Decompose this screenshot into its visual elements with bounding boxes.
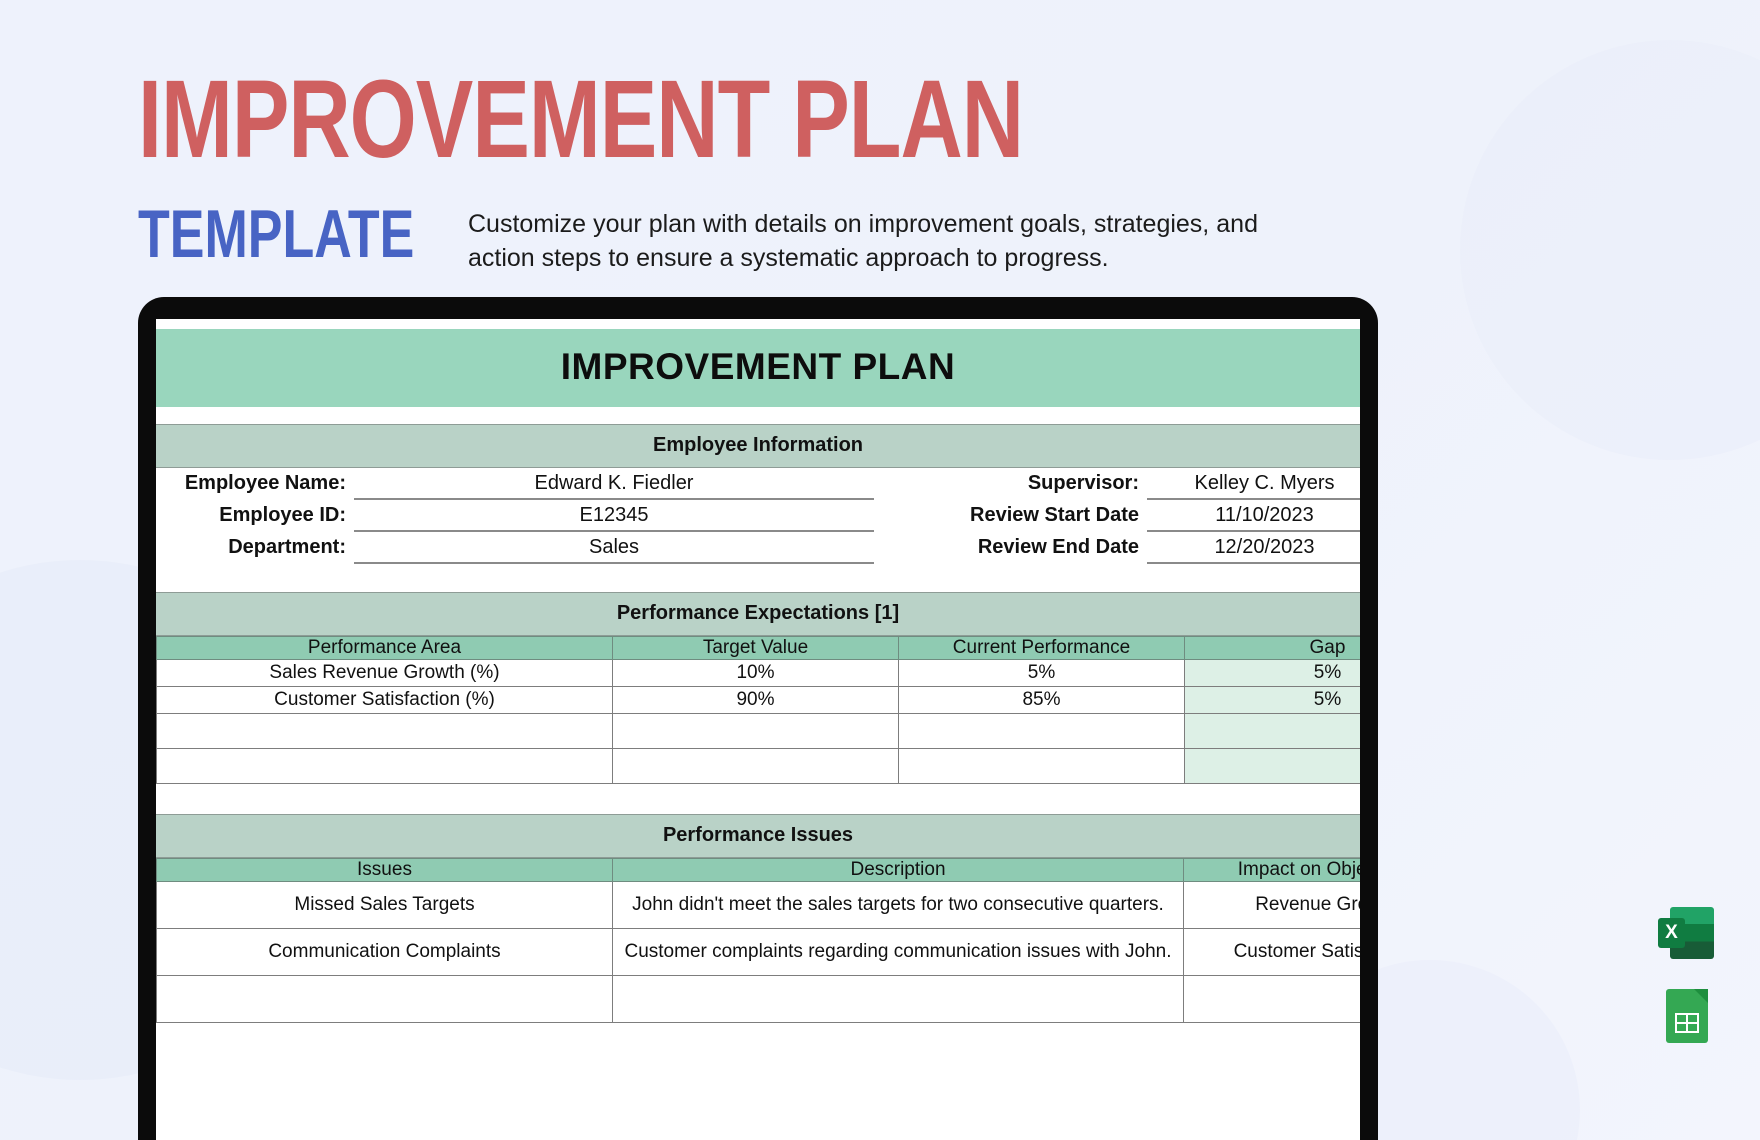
format-icons: X (1648, 905, 1724, 1045)
table-row (157, 749, 1361, 784)
excel-icon[interactable]: X (1658, 905, 1714, 961)
column-header-impact-on-objectives: Impact on Objectives (1184, 859, 1361, 882)
cell-performance-area[interactable] (157, 714, 613, 749)
table-header-row: Issues Description Impact on Objectives (157, 859, 1361, 882)
table-row: Employee ID: E12345 Review Start Date 11… (156, 499, 1360, 531)
page-description: Customize your plan with details on impr… (468, 208, 1258, 276)
cell-current-performance[interactable]: 5% (899, 660, 1185, 687)
google-sheets-icon-grid (1675, 1013, 1699, 1033)
subtitle-row: TEMPLATE Customize your plan with detail… (138, 200, 1318, 276)
column-header-performance-area: Performance Area (157, 637, 613, 660)
laptop-frame: IMPROVEMENT PLAN Employee Information Em… (138, 297, 1378, 1140)
field-value-employee-name[interactable]: Edward K. Fiedler (354, 468, 874, 499)
cell-performance-area[interactable] (157, 749, 613, 784)
cell-description[interactable] (613, 976, 1184, 1023)
field-label-department: Department: (156, 531, 354, 563)
field-value-department[interactable]: Sales (354, 531, 874, 563)
cell-gap[interactable]: 5% (1185, 660, 1361, 687)
cell-target-value[interactable]: 90% (613, 687, 899, 714)
cell-current-performance[interactable] (899, 714, 1185, 749)
field-label-review-start-date: Review Start Date (904, 499, 1147, 531)
performance-issues-table: Issues Description Impact on Objectives … (156, 858, 1360, 1023)
cell-target-value[interactable]: 10% (613, 660, 899, 687)
cell-target-value[interactable] (613, 749, 899, 784)
cell-issue[interactable] (157, 976, 613, 1023)
performance-expectations-table: Performance Area Target Value Current Pe… (156, 636, 1360, 784)
field-label-employee-name: Employee Name: (156, 468, 354, 499)
cell-performance-area[interactable]: Customer Satisfaction (%) (157, 687, 613, 714)
field-label-review-end-date: Review End Date (904, 531, 1147, 563)
field-label-supervisor: Supervisor: (904, 468, 1147, 499)
table-row: Missed Sales Targets John didn't meet th… (157, 882, 1361, 929)
field-label-employee-id: Employee ID: (156, 499, 354, 531)
excel-icon-letter: X (1658, 918, 1685, 948)
cell-issue[interactable]: Communication Complaints (157, 929, 613, 976)
spreadsheet: IMPROVEMENT PLAN Employee Information Em… (156, 319, 1360, 1023)
table-header-row: Performance Area Target Value Current Pe… (157, 637, 1361, 660)
cell-description[interactable]: Customer complaints regarding communicat… (613, 929, 1184, 976)
page-root: IMPROVEMENT PLAN TEMPLATE Customize your… (0, 0, 1760, 1140)
google-sheets-icon[interactable] (1658, 989, 1714, 1045)
cell-target-value[interactable] (613, 714, 899, 749)
column-header-target-value: Target Value (613, 637, 899, 660)
page-subtitle: TEMPLATE (138, 200, 468, 271)
cell-gap[interactable] (1185, 749, 1361, 784)
cell-current-performance[interactable] (899, 749, 1185, 784)
cell-impact[interactable] (1184, 976, 1361, 1023)
table-row: Communication Complaints Customer compla… (157, 929, 1361, 976)
table-row: Employee Name: Edward K. Fiedler Supervi… (156, 468, 1360, 499)
cell-gap[interactable]: 5% (1185, 687, 1361, 714)
cell-current-performance[interactable]: 85% (899, 687, 1185, 714)
field-value-review-start-date[interactable]: 11/10/2023 (1147, 499, 1360, 531)
cell-issue[interactable]: Missed Sales Targets (157, 882, 613, 929)
cell-description[interactable]: John didn't meet the sales targets for t… (613, 882, 1184, 929)
table-row (157, 714, 1361, 749)
column-header-description: Description (613, 859, 1184, 882)
column-header-current-performance: Current Performance (899, 637, 1185, 660)
table-row (157, 976, 1361, 1023)
section-header-performance-expectations: Performance Expectations [1] (156, 592, 1360, 636)
background-blob (1460, 40, 1760, 460)
field-value-review-end-date[interactable]: 12/20/2023 (1147, 531, 1360, 563)
column-header-gap: Gap (1185, 637, 1361, 660)
cell-impact[interactable]: Customer Satisfaction (1184, 929, 1361, 976)
cell-impact[interactable]: Revenue Growth (1184, 882, 1361, 929)
page-title: IMPROVEMENT PLAN (138, 62, 1314, 177)
field-value-employee-id[interactable]: E12345 (354, 499, 874, 531)
table-row: Customer Satisfaction (%) 90% 85% 5% (157, 687, 1361, 714)
document-banner-title: IMPROVEMENT PLAN (156, 329, 1360, 407)
page-header: IMPROVEMENT PLAN TEMPLATE Customize your… (138, 62, 1338, 154)
table-row: Sales Revenue Growth (%) 10% 5% 5% (157, 660, 1361, 687)
google-sheets-icon-body (1666, 989, 1708, 1043)
section-header-performance-issues: Performance Issues (156, 814, 1360, 858)
employee-information-table: Employee Name: Edward K. Fiedler Supervi… (156, 468, 1360, 564)
google-sheets-icon-fold (1694, 989, 1708, 1003)
table-row: Department: Sales Review End Date 12/20/… (156, 531, 1360, 563)
field-value-supervisor[interactable]: Kelley C. Myers (1147, 468, 1360, 499)
cell-gap[interactable] (1185, 714, 1361, 749)
cell-performance-area[interactable]: Sales Revenue Growth (%) (157, 660, 613, 687)
column-header-issues: Issues (157, 859, 613, 882)
screen: IMPROVEMENT PLAN Employee Information Em… (156, 319, 1360, 1140)
section-header-employee-information: Employee Information (156, 424, 1360, 468)
